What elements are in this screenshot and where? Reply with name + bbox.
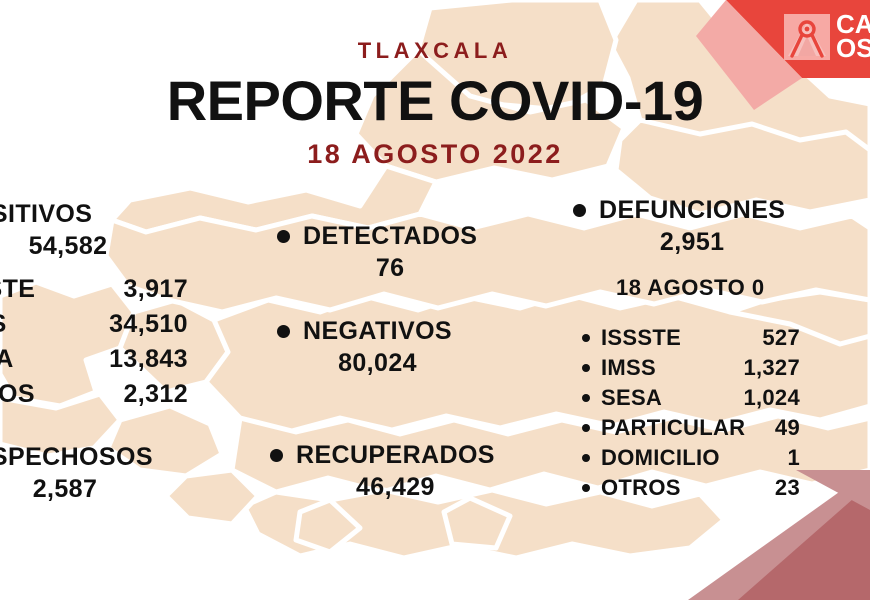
positivos-breakdown: ISSSTE 3,917 IMSS 34,510 SESA 13,843 OTR… (0, 275, 188, 409)
data-columns: POSITIVOS 54,582 ISSSTE 3,917 IMSS 34,51… (0, 0, 870, 600)
stat-label: NEGATIVOS (303, 317, 452, 346)
bullet-icon (582, 334, 590, 342)
bullet-icon (270, 449, 283, 462)
breakdown-label: OTROS (0, 380, 35, 409)
stat-sospechosos: SOSPECHOSOS 2,587 (0, 443, 188, 504)
breakdown-value: 3,917 (123, 275, 188, 304)
breakdown-row: IMSS 34,510 (0, 310, 188, 339)
stat-value: 54,582 (0, 232, 188, 261)
breakdown-row: DOMICILIO 1 (582, 445, 800, 471)
stat-value: 2,587 (0, 475, 188, 504)
stat-recuperados: RECUPERADOS 46,429 (270, 441, 495, 502)
stat-value: 80,024 (303, 349, 452, 378)
breakdown-label: ISSSTE (601, 325, 681, 351)
breakdown-label: ISSSTE (0, 275, 35, 304)
breakdown-label: SESA (0, 345, 14, 374)
breakdown-row: OTROS 2,312 (0, 380, 188, 409)
breakdown-value: 1 (787, 445, 800, 471)
stat-value: 2,951 (599, 228, 785, 257)
breakdown-row: SESA 1,024 (582, 385, 800, 411)
breakdown-label: OTROS (601, 475, 681, 501)
breakdown-value: 13,843 (109, 345, 188, 374)
bullet-icon (277, 325, 290, 338)
stat-detectados: DETECTADOS 76 (277, 222, 477, 283)
breakdown-value: 1,024 (743, 385, 800, 411)
breakdown-row: PARTICULAR 49 (582, 415, 800, 441)
bullet-icon (582, 394, 590, 402)
stat-value: 46,429 (296, 473, 495, 502)
breakdown-row: OTROS 23 (582, 475, 800, 501)
stat-label: SOSPECHOSOS (0, 443, 153, 472)
bullet-icon (582, 454, 590, 462)
bullet-icon (582, 484, 590, 492)
defunciones-daily-title: 18 AGOSTO 0 (616, 275, 765, 301)
bullet-icon (573, 204, 586, 217)
breakdown-row: IMSS 1,327 (582, 355, 800, 381)
stat-value: 76 (303, 254, 477, 283)
breakdown-label: PARTICULAR (601, 415, 745, 441)
breakdown-value: 2,312 (123, 380, 188, 409)
daily-title-label: 18 AGOSTO 0 (616, 275, 765, 301)
breakdown-label: IMSS (601, 355, 656, 381)
breakdown-row: ISSSTE 527 (582, 325, 800, 351)
stat-defunciones: DEFUNCIONES 2,951 (573, 196, 785, 257)
bullet-icon (582, 424, 590, 432)
stat-label: DEFUNCIONES (599, 196, 785, 225)
breakdown-label: IMSS (0, 310, 7, 339)
stat-label: DETECTADOS (303, 222, 477, 251)
breakdown-value: 527 (762, 325, 800, 351)
breakdown-value: 1,327 (743, 355, 800, 381)
breakdown-row: ISSSTE 3,917 (0, 275, 188, 304)
bullet-icon (277, 230, 290, 243)
bullet-icon (582, 364, 590, 372)
breakdown-value: 23 (775, 475, 800, 501)
breakdown-label: SESA (601, 385, 662, 411)
breakdown-row: SESA 13,843 (0, 345, 188, 374)
stat-positivos: POSITIVOS 54,582 (0, 200, 188, 261)
stat-label: RECUPERADOS (296, 441, 495, 470)
stat-label: POSITIVOS (0, 200, 92, 229)
breakdown-label: DOMICILIO (601, 445, 720, 471)
infographic-canvas: CA OS TLAXCALA REPORTE COVID-19 18 AGOST… (0, 0, 870, 600)
breakdown-value: 34,510 (109, 310, 188, 339)
defunciones-breakdown: ISSSTE 527 IMSS 1,327 SESA 1,024 PARTICU… (582, 325, 800, 505)
stat-negativos: NEGATIVOS 80,024 (277, 317, 452, 378)
breakdown-value: 49 (775, 415, 800, 441)
